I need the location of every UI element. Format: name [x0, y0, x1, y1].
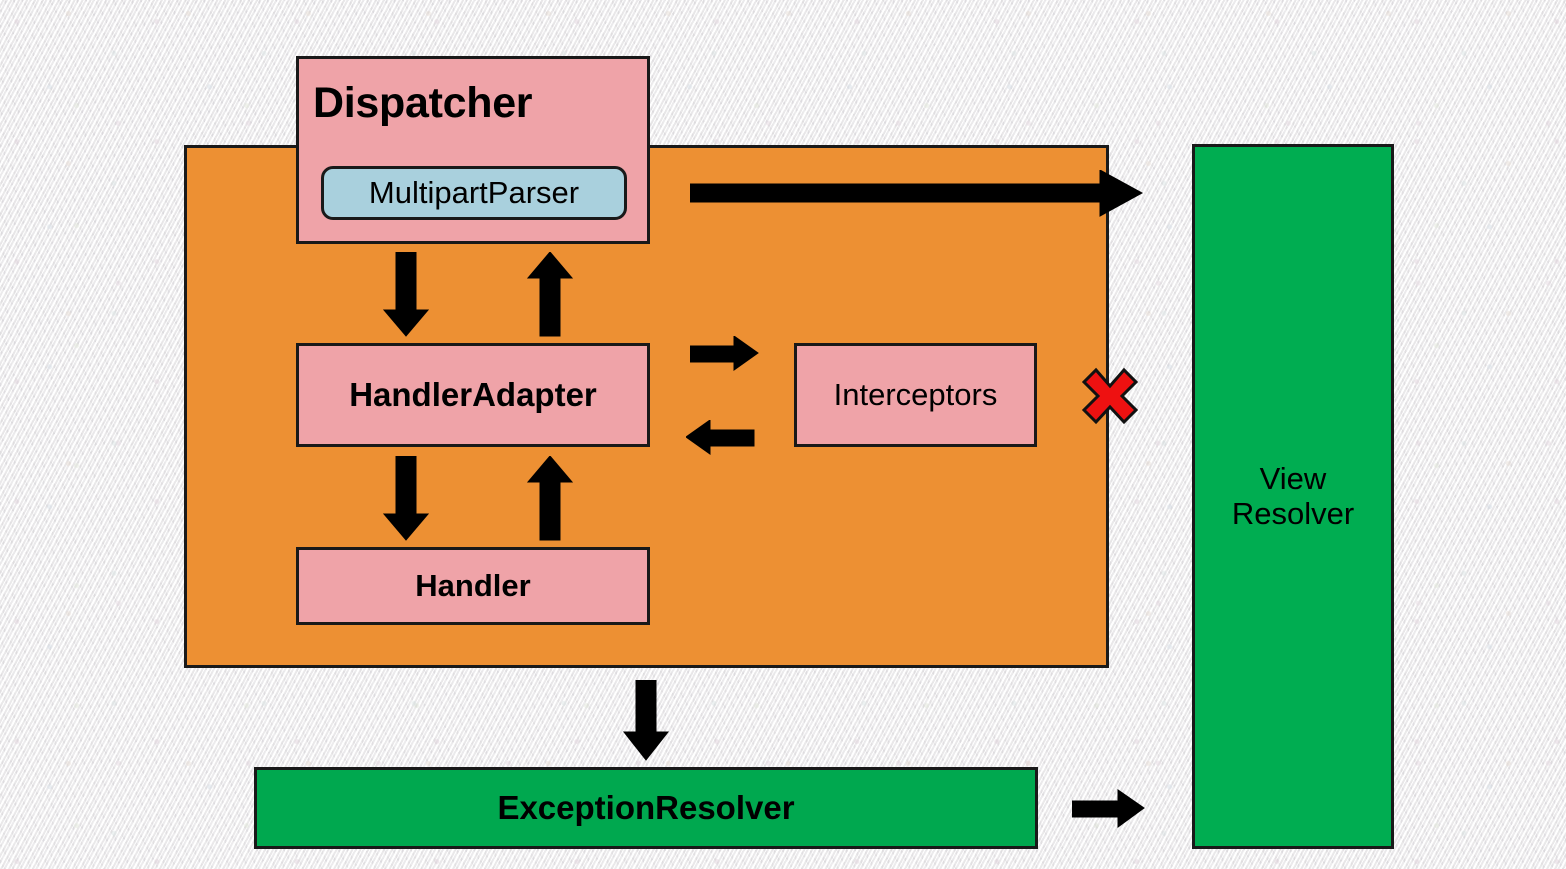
handler-node: Handler	[296, 547, 650, 625]
handler-adapter-node: HandlerAdapter	[296, 343, 650, 447]
view-resolver-node: View Resolver	[1192, 144, 1394, 849]
arrow-handler-to-handler-adapter	[527, 456, 573, 542]
dispatcher-node: Dispatcher MultipartParser	[296, 56, 650, 244]
arrow-dispatcher-to-view-resolver	[690, 170, 1146, 218]
red-x-icon	[1080, 366, 1140, 426]
view-resolver-label-line1: View	[1260, 462, 1327, 497]
handler-adapter-label: HandlerAdapter	[349, 377, 597, 414]
multipart-parser-label: MultipartParser	[369, 176, 579, 211]
arrow-container-to-exception-resolver	[622, 680, 670, 762]
interceptors-label: Interceptors	[834, 378, 998, 413]
arrow-handler-adapter-to-interceptors	[690, 336, 760, 372]
exception-resolver-label: ExceptionResolver	[497, 790, 794, 827]
exception-resolver-node: ExceptionResolver	[254, 767, 1038, 849]
arrow-exception-resolver-to-view-resolver	[1072, 789, 1146, 829]
dispatcher-label: Dispatcher	[313, 79, 532, 127]
handler-label: Handler	[415, 569, 530, 604]
slide-canvas: Dispatcher MultipartParser HandlerAdapte…	[0, 0, 1566, 869]
arrow-interceptors-to-handler-adapter	[686, 420, 756, 456]
arrow-handler-adapter-to-dispatcher	[527, 252, 573, 338]
view-resolver-label-line2: Resolver	[1232, 497, 1354, 532]
multipart-parser-node: MultipartParser	[321, 166, 627, 220]
arrow-dispatcher-to-handler-adapter	[383, 252, 429, 338]
arrow-handler-adapter-to-handler	[383, 456, 429, 542]
interceptors-node: Interceptors	[794, 343, 1037, 447]
